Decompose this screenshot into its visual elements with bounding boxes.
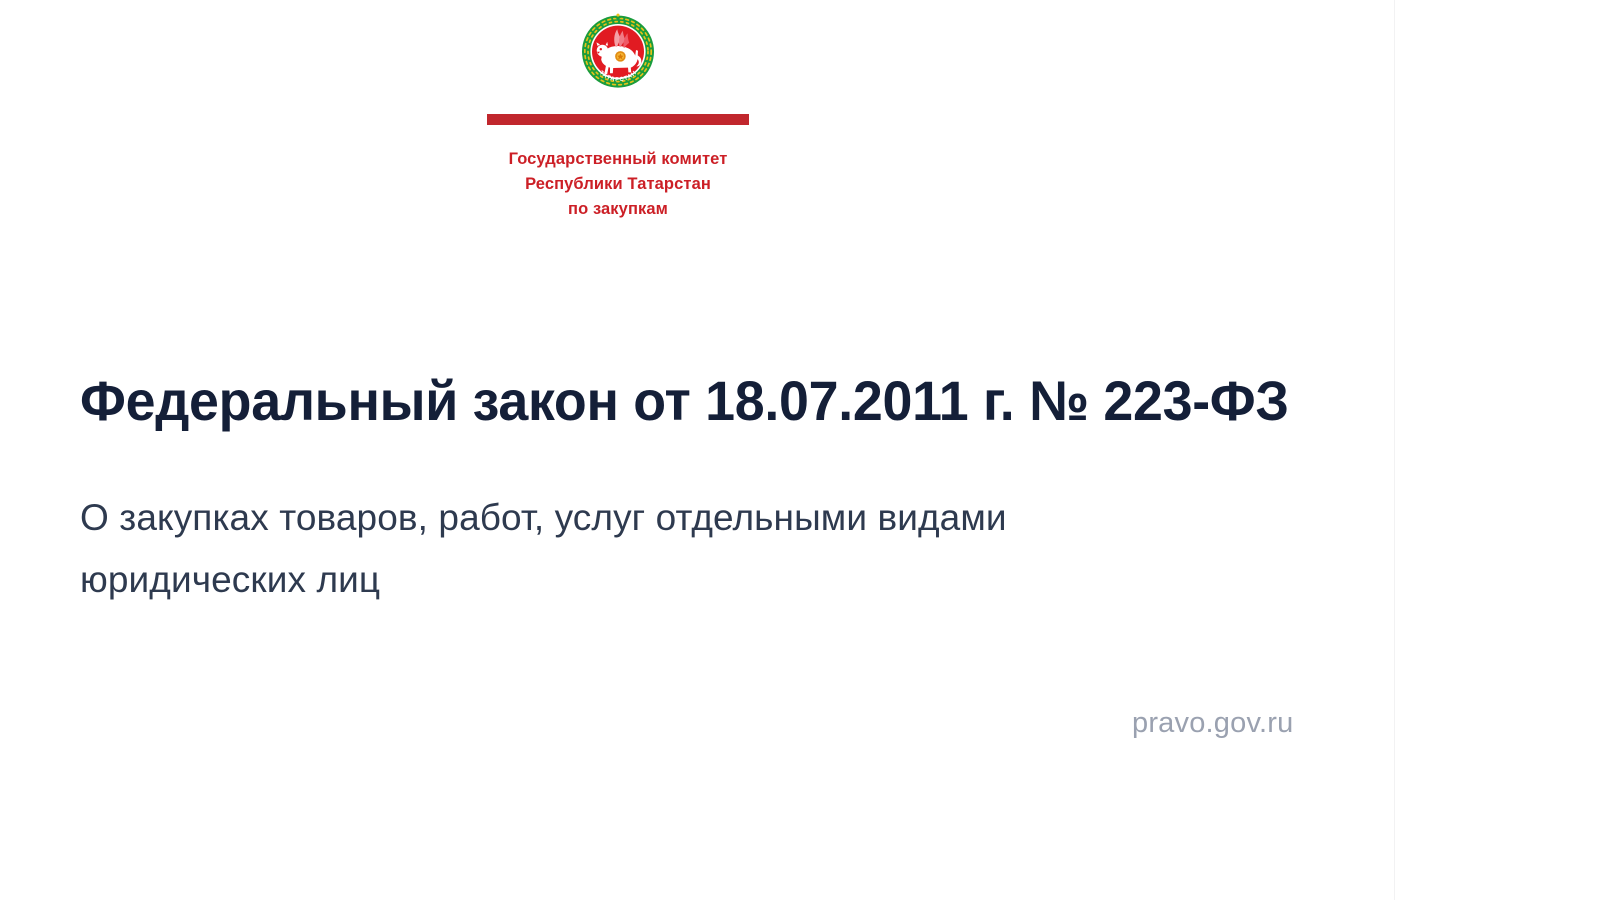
page-subtitle-line-2: юридических лиц (80, 549, 1090, 611)
organization-name: Государственный комитет Республики Татар… (509, 147, 728, 222)
organization-logo-lockup: ТАТАРСТАН Государственный комитет Респуб… (487, 10, 749, 222)
source-watermark: pravo.gov.ru (1132, 707, 1293, 740)
organization-name-line-3: по закупкам (509, 197, 728, 222)
slide-canvas: ТАТАРСТАН Государственный комитет Респуб… (0, 0, 1600, 900)
page-edge-divider (1394, 0, 1395, 900)
page-subtitle-line-1: О закупках товаров, работ, услуг отдельн… (80, 487, 1090, 549)
organization-name-line-2: Республики Татарстан (509, 172, 728, 197)
page-subtitle: О закупках товаров, работ, услуг отдельн… (80, 487, 1090, 611)
coat-of-arms-of-tatarstan-icon: ТАТАРСТАН (578, 10, 658, 98)
logo-red-rule (487, 114, 749, 125)
page-title: Федеральный закон от 18.07.2011 г. № 223… (80, 368, 1328, 434)
organization-name-line-1: Государственный комитет (509, 147, 728, 172)
